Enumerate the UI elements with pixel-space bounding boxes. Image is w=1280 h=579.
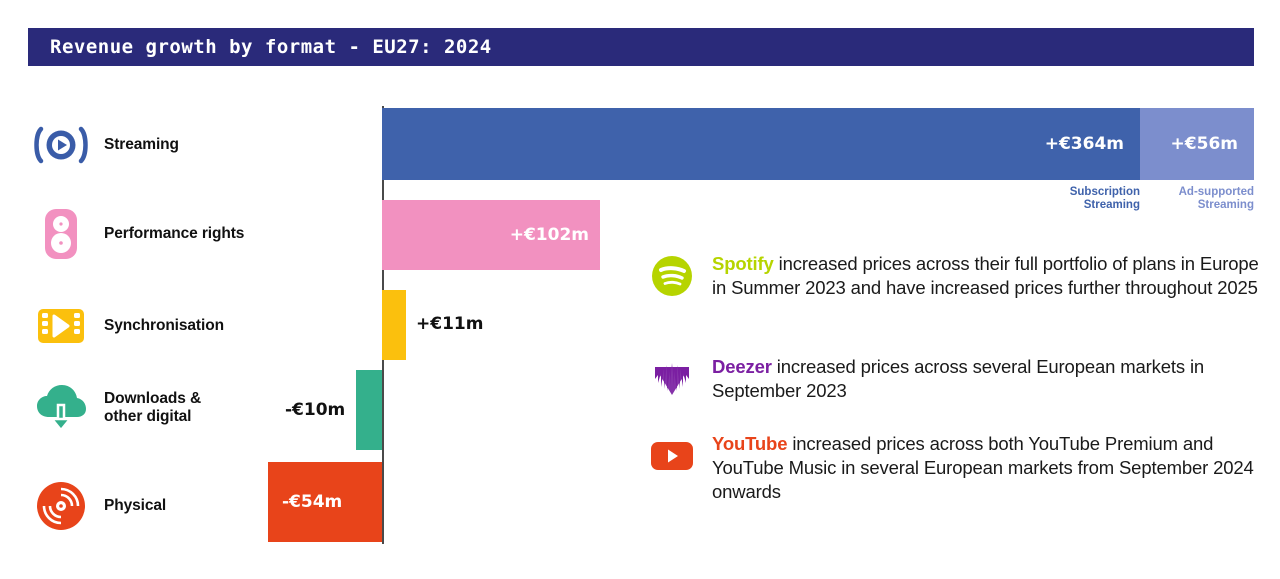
bar-label-subscription-streaming: +€364m bbox=[1045, 134, 1124, 154]
note-body-deezer: increased prices across several European… bbox=[712, 356, 1204, 401]
bar-label-ad-supported-streaming: +€56m bbox=[1171, 134, 1238, 154]
bar-downloads bbox=[356, 370, 382, 450]
bar-subscription-streaming: +€364m bbox=[382, 108, 1140, 180]
note-brand-spotify: Spotify bbox=[712, 253, 774, 274]
bar-label-physical: -€54m bbox=[282, 492, 342, 512]
note-text-youtube: YouTube increased prices across both You… bbox=[712, 432, 1260, 504]
segment-caption-ad-supported: Ad-supported Streaming bbox=[1114, 186, 1254, 212]
note-body-youtube: increased prices across both YouTube Pre… bbox=[712, 433, 1254, 502]
note-brand-youtube: YouTube bbox=[712, 433, 787, 454]
bar-synchronisation bbox=[382, 290, 406, 360]
bar-physical: -€54m bbox=[268, 462, 382, 542]
bar-label-synchronisation: +€11m bbox=[416, 314, 483, 334]
infographic-page: Revenue growth by format - EU27: 2024 St… bbox=[0, 0, 1280, 579]
note-body-spotify: increased prices across their full portf… bbox=[712, 253, 1259, 298]
spotify-logo-icon bbox=[650, 254, 694, 298]
note-youtube: YouTube increased prices across both You… bbox=[650, 432, 1260, 504]
bar-ad-supported-streaming: +€56m bbox=[1140, 108, 1254, 180]
note-text-deezer: Deezer increased prices across several E… bbox=[712, 355, 1260, 403]
bar-label-performance-rights: +€102m bbox=[510, 225, 589, 245]
bar-label-downloads: -€10m bbox=[285, 400, 345, 420]
note-spotify: Spotify increased prices across their fu… bbox=[650, 252, 1260, 300]
youtube-logo-icon bbox=[650, 434, 694, 478]
deezer-logo-icon bbox=[650, 357, 694, 401]
note-text-spotify: Spotify increased prices across their fu… bbox=[712, 252, 1260, 300]
bar-performance-rights: +€102m bbox=[382, 200, 600, 270]
note-brand-deezer: Deezer bbox=[712, 356, 772, 377]
note-deezer: Deezer increased prices across several E… bbox=[650, 355, 1260, 403]
